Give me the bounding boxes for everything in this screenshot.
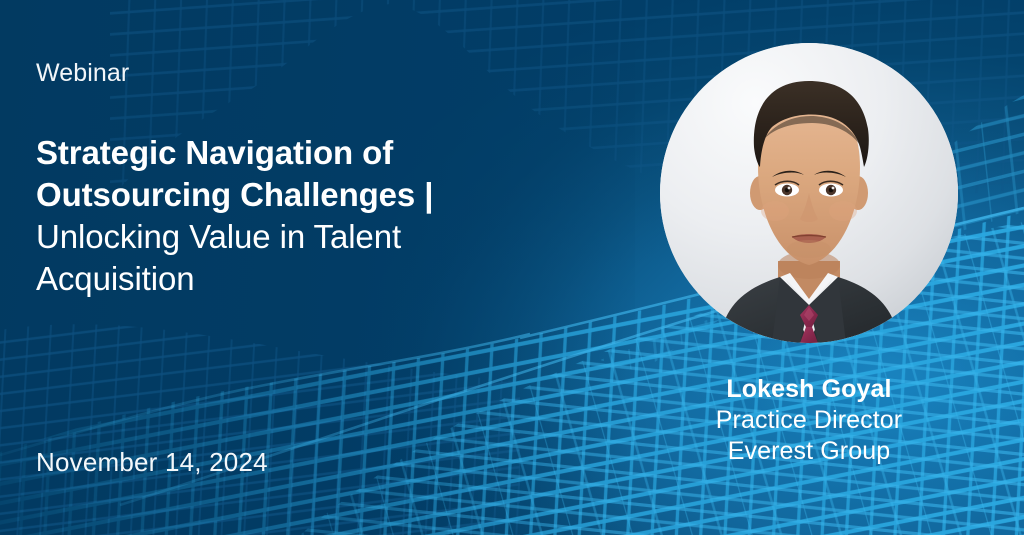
headline-column: Webinar Strategic Navigation of Outsourc… [36,0,556,535]
title-regular-part: Unlocking Value in Talent Acquisition [36,218,401,297]
page-title: Strategic Navigation of Outsourcing Chal… [36,132,536,300]
kicker-label: Webinar [36,60,129,88]
speaker-details: Lokesh Goyal Practice Director Everest G… [648,374,970,467]
speaker-role: Practice Director [648,405,970,436]
event-date: November 14, 2024 [36,447,268,478]
speaker-headshot-illustration [660,43,958,343]
speaker-avatar [660,43,958,343]
webinar-promo-banner: Webinar Strategic Navigation of Outsourc… [0,0,1024,535]
speaker-organization: Everest Group [648,436,970,467]
title-bold-part: Strategic Navigation of Outsourcing Chal… [36,134,433,213]
speaker-name: Lokesh Goyal [648,374,970,405]
